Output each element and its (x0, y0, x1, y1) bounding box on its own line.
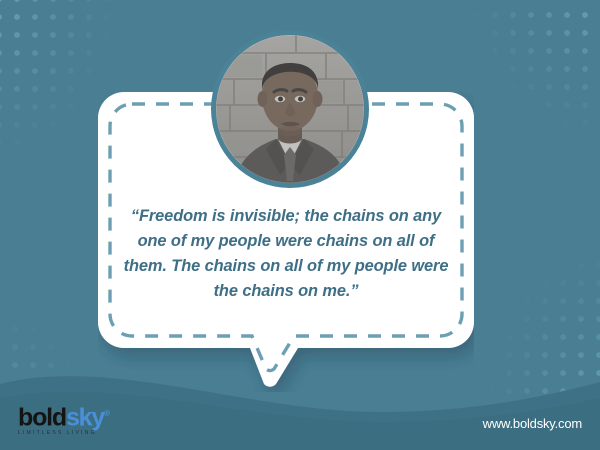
logo-sky-text: sky (66, 403, 104, 431)
logo-tagline: LIMITLESS LIVING (18, 430, 110, 436)
website-url[interactable]: www.boldsky.com (483, 416, 582, 431)
logo-wordmark: boldsky® (18, 402, 110, 429)
portrait-avatar (211, 30, 369, 188)
quote-text: “Freedom is invisible; the chains on any… (116, 204, 456, 304)
logo-bold-text: bold (18, 403, 66, 431)
mandela-portrait-illustration (216, 35, 364, 183)
boldsky-logo[interactable]: boldsky® LIMITLESS LIVING (18, 402, 110, 436)
portrait-image (216, 35, 364, 183)
quote-poster: “Freedom is invisible; the chains on any… (0, 0, 600, 450)
registered-mark-icon: ® (104, 409, 110, 418)
